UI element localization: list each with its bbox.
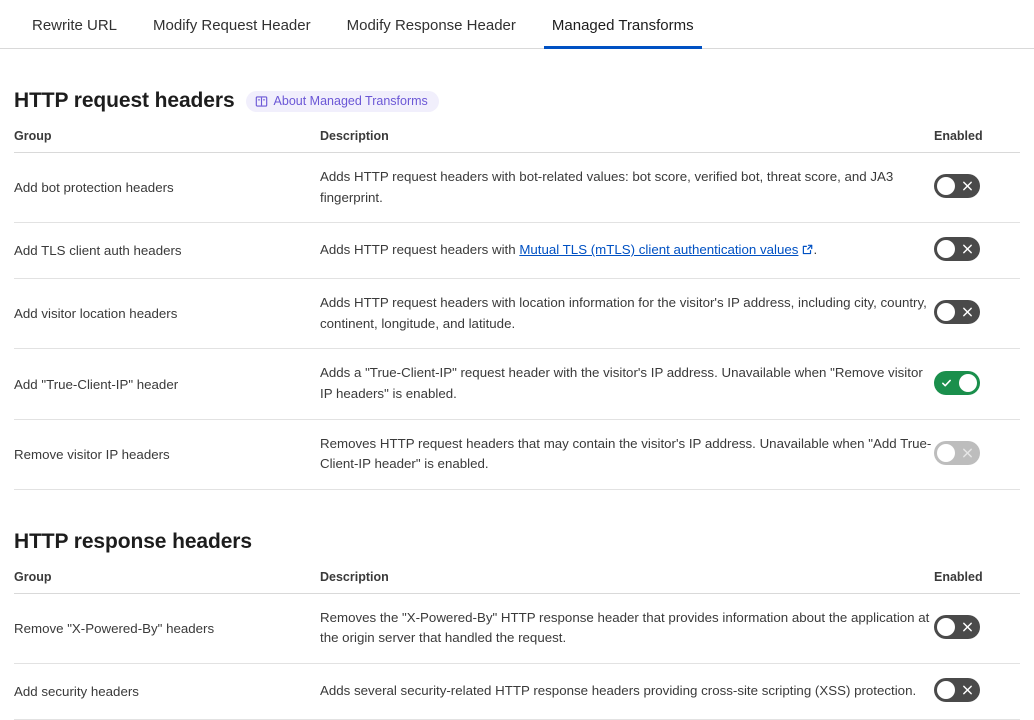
toggle-add-visitor-location-headers[interactable] xyxy=(934,300,980,324)
row-group-label: Remove "X-Powered-By" headers xyxy=(14,593,320,663)
section-top-spacer xyxy=(14,49,1020,89)
toggle-add-true-client-ip-header[interactable] xyxy=(934,371,980,395)
toggle-remove-visitor-ip-headers xyxy=(934,441,980,465)
table-row: Add bot protection headers Adds HTTP req… xyxy=(14,153,1020,223)
tab-bar: Rewrite URL Modify Request Header Modify… xyxy=(0,0,1034,49)
book-icon xyxy=(255,95,268,108)
column-header-group: Group xyxy=(14,570,320,594)
mtls-documentation-link[interactable]: Mutual TLS (mTLS) client authentication … xyxy=(519,242,798,257)
toggle-knob xyxy=(937,240,955,258)
header-gap xyxy=(14,554,1020,570)
toggle-knob xyxy=(937,618,955,636)
about-badge-label: About Managed Transforms xyxy=(274,95,428,108)
column-header-description: Description xyxy=(320,129,934,153)
row-description: Adds HTTP request headers with bot-relat… xyxy=(320,153,934,223)
row-description: Adds HTTP request headers with location … xyxy=(320,279,934,349)
close-icon xyxy=(962,181,973,192)
table-row: Add "True-Client-IP" header Adds a "True… xyxy=(14,349,1020,419)
request-section-header: HTTP request headers About Managed Trans… xyxy=(14,89,1020,113)
page-title-request: HTTP request headers xyxy=(14,89,235,113)
row-enabled-cell xyxy=(934,349,1020,419)
column-header-enabled: Enabled xyxy=(934,129,1020,153)
table-row: Add visitor location headers Adds HTTP r… xyxy=(14,279,1020,349)
http-request-headers-section: HTTP request headers About Managed Trans… xyxy=(0,49,1034,490)
external-link-icon[interactable] xyxy=(802,244,813,255)
row-description: Adds HTTP request headers with Mutual TL… xyxy=(320,223,934,279)
row-group-label: Remove visitor IP headers xyxy=(14,419,320,489)
page-title-response: HTTP response headers xyxy=(14,530,252,554)
row-group-label: Add bot protection headers xyxy=(14,153,320,223)
row-enabled-cell xyxy=(934,153,1020,223)
close-icon xyxy=(962,307,973,318)
response-section-spacer xyxy=(14,490,1020,530)
toggle-knob xyxy=(959,374,977,392)
row-group-label: Add security headers xyxy=(14,664,320,720)
row-enabled-cell xyxy=(934,664,1020,720)
table-row: Remove "X-Powered-By" headers Removes th… xyxy=(14,593,1020,663)
row-enabled-cell xyxy=(934,223,1020,279)
row-group-label: Add "True-Client-IP" header xyxy=(14,349,320,419)
tab-modify-request-header[interactable]: Modify Request Header xyxy=(135,18,329,48)
check-icon xyxy=(941,377,952,388)
table-row: Add security headers Adds several securi… xyxy=(14,664,1020,720)
row-enabled-cell xyxy=(934,279,1020,349)
tab-rewrite-url[interactable]: Rewrite URL xyxy=(14,18,135,48)
row-description: Removes HTTP request headers that may co… xyxy=(320,419,934,489)
column-header-enabled: Enabled xyxy=(934,570,1020,594)
header-gap xyxy=(14,113,1020,129)
toggle-knob xyxy=(937,444,955,462)
toggle-add-bot-protection-headers[interactable] xyxy=(934,174,980,198)
close-icon xyxy=(962,244,973,255)
table-header-row: Group Description Enabled xyxy=(14,570,1020,594)
about-managed-transforms-badge[interactable]: About Managed Transforms xyxy=(246,91,439,112)
close-icon xyxy=(962,685,973,696)
toggle-knob xyxy=(937,303,955,321)
tab-managed-transforms[interactable]: Managed Transforms xyxy=(534,18,712,48)
table-row: Remove visitor IP headers Removes HTTP r… xyxy=(14,419,1020,489)
row-description: Adds a "True-Client-IP" request header w… xyxy=(320,349,934,419)
close-icon xyxy=(962,621,973,632)
toggle-add-security-headers[interactable] xyxy=(934,678,980,702)
toggle-add-tls-client-auth-headers[interactable] xyxy=(934,237,980,261)
response-section-header: HTTP response headers xyxy=(14,530,1020,554)
table-header-row: Group Description Enabled xyxy=(14,129,1020,153)
desc-suffix: . xyxy=(813,242,817,257)
row-group-label: Add visitor location headers xyxy=(14,279,320,349)
response-headers-table: Group Description Enabled Remove "X-Powe… xyxy=(14,570,1020,720)
toggle-knob xyxy=(937,177,955,195)
row-description: Removes the "X-Powered-By" HTTP response… xyxy=(320,593,934,663)
row-group-label: Add TLS client auth headers xyxy=(14,223,320,279)
desc-prefix: Adds HTTP request headers with xyxy=(320,242,519,257)
column-header-group: Group xyxy=(14,129,320,153)
toggle-remove-x-powered-by-headers[interactable] xyxy=(934,615,980,639)
http-response-headers-section: HTTP response headers Group Description … xyxy=(0,490,1034,720)
request-headers-table: Group Description Enabled Add bot protec… xyxy=(14,129,1020,490)
row-description: Adds several security-related HTTP respo… xyxy=(320,664,934,720)
row-enabled-cell xyxy=(934,593,1020,663)
row-enabled-cell xyxy=(934,419,1020,489)
table-row: Add TLS client auth headers Adds HTTP re… xyxy=(14,223,1020,279)
close-icon xyxy=(962,447,973,458)
toggle-knob xyxy=(937,681,955,699)
column-header-description: Description xyxy=(320,570,934,594)
tab-modify-response-header[interactable]: Modify Response Header xyxy=(329,18,534,48)
